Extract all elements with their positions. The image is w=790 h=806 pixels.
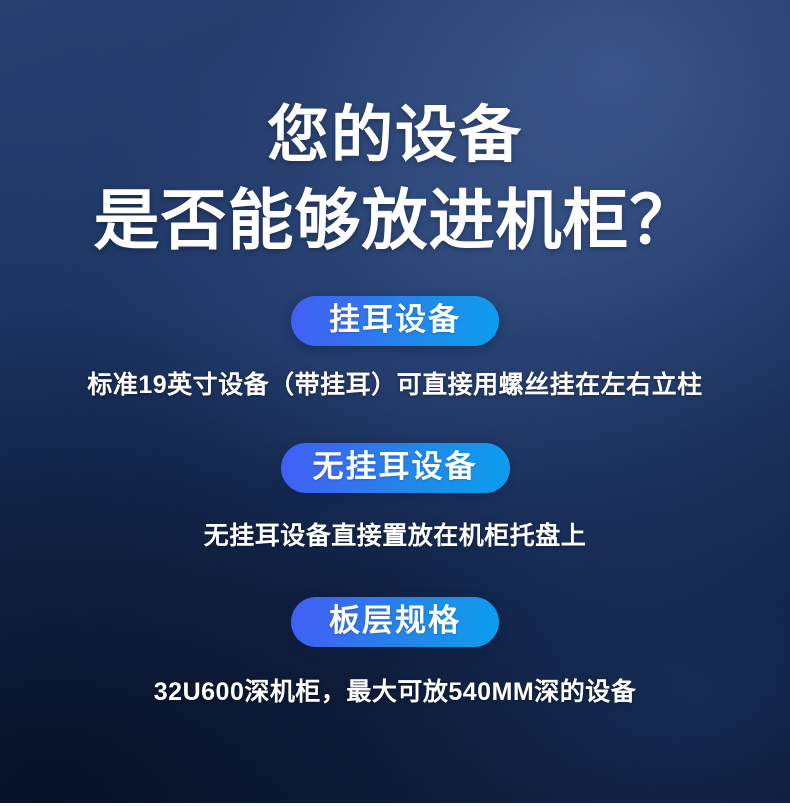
poster-content: 您的设备 是否能够放进机柜？ 挂耳设备 标准19英寸设备（带挂耳）可直接用螺丝挂… (0, 0, 790, 806)
headline-line-2: 是否能够放进机柜？ (0, 178, 790, 262)
feature-section-no-mounting-ears: 无挂耳设备 无挂耳设备直接置放在机柜托盘上 (0, 443, 790, 553)
badge-mounting-ears: 挂耳设备 (291, 296, 499, 346)
caption-no-mounting-ears: 无挂耳设备直接置放在机柜托盘上 (0, 519, 790, 553)
page-title: 您的设备 是否能够放进机柜？ (0, 94, 790, 262)
badge-no-mounting-ears: 无挂耳设备 (281, 443, 510, 493)
caption-shelf-spec: 32U600深机柜，最大可放540MM深的设备 (0, 675, 790, 709)
promo-poster: 您的设备 是否能够放进机柜？ 挂耳设备 标准19英寸设备（带挂耳）可直接用螺丝挂… (0, 0, 790, 806)
feature-section-shelf-spec: 板层规格 32U600深机柜，最大可放540MM深的设备 (0, 597, 790, 709)
badge-shelf-spec: 板层规格 (291, 597, 499, 647)
feature-section-mounting-ears: 挂耳设备 标准19英寸设备（带挂耳）可直接用螺丝挂在左右立柱 (0, 296, 790, 402)
headline-line-1: 您的设备 (0, 94, 790, 178)
caption-mounting-ears: 标准19英寸设备（带挂耳）可直接用螺丝挂在左右立柱 (0, 368, 790, 402)
